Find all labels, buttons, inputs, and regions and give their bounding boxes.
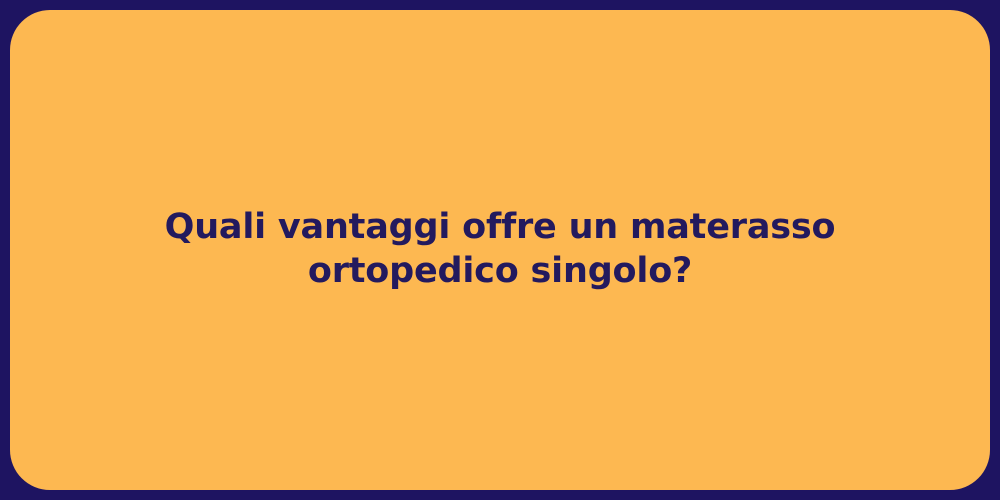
banner-background: Quali vantaggi offre un materasso ortope… <box>0 0 1000 500</box>
headline-question: Quali vantaggi offre un materasso ortope… <box>80 206 920 294</box>
content-card: Quali vantaggi offre un materasso ortope… <box>10 10 990 490</box>
